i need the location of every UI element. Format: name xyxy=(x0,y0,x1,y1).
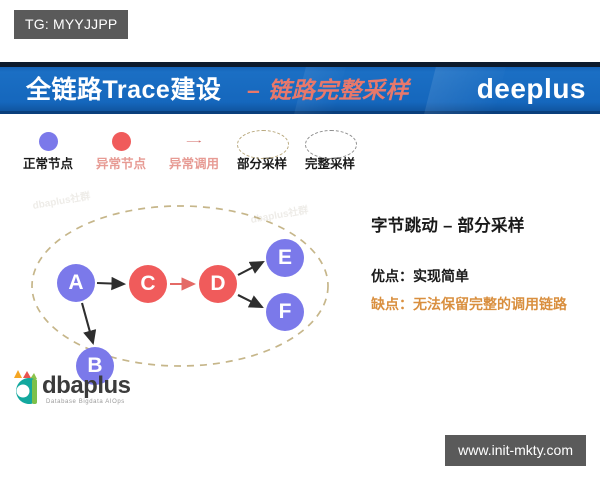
node-e[interactable]: E xyxy=(266,239,304,277)
description-panel: 字节跳动 – 部分采样 优点：实现简单 缺点：无法保留完整的调用链路 xyxy=(371,215,593,315)
panel-pro-text: 优点：实现简单 xyxy=(371,266,593,287)
title-separator-dash: – xyxy=(247,75,260,105)
deeplus-logo: deeplus xyxy=(477,73,586,105)
edge-a-to-b xyxy=(82,303,93,343)
legend-label: 异常调用 xyxy=(158,156,230,172)
legend-mark xyxy=(226,126,298,156)
node-c[interactable]: C xyxy=(129,265,167,303)
node-a[interactable]: A xyxy=(57,264,95,302)
node-f[interactable]: F xyxy=(266,293,304,331)
edge-d-to-f xyxy=(238,295,262,307)
partial-sampling-ellipse-icon xyxy=(237,130,289,159)
legend-item-full-sampling: 完整采样 xyxy=(294,126,366,172)
dbaplus-tagline: Database Bigdata AIOps xyxy=(46,398,125,406)
legend: 正常节点 异常节点 异常调用 部分采样 完整采样 xyxy=(0,126,380,184)
dbaplus-logo: dbaplus Database Bigdata AIOps xyxy=(6,368,131,412)
legend-item-normal-node: 正常节点 xyxy=(12,126,84,172)
normal-node-dot-icon xyxy=(39,132,58,151)
edge-d-to-e xyxy=(238,262,263,275)
legend-label: 正常节点 xyxy=(12,156,84,172)
panel-title: 字节跳动 – 部分采样 xyxy=(371,215,593,237)
full-sampling-ellipse-icon xyxy=(305,130,357,159)
url-watermark-tag: www.init-mkty.com xyxy=(445,435,586,466)
tg-watermark-tag: TG: MYYJJPP xyxy=(14,10,128,39)
abnormal-node-dot-icon xyxy=(112,132,131,151)
edge-a-to-c xyxy=(97,283,124,284)
dbaplus-wordmark: dbaplus xyxy=(42,372,131,400)
legend-mark xyxy=(85,126,157,156)
abnormal-call-arrow-icon xyxy=(165,140,223,143)
legend-mark xyxy=(12,126,84,156)
page-subtitle: 链路完整采样 xyxy=(268,75,409,105)
legend-item-partial-sampling: 部分采样 xyxy=(226,126,298,172)
legend-item-abnormal-call: 异常调用 xyxy=(158,126,230,172)
header-banner: 全链路Trace建设 – 链路完整采样 deeplus xyxy=(0,62,600,114)
legend-mark xyxy=(158,126,230,156)
panel-con-text: 缺点：无法保留完整的调用链路 xyxy=(371,294,593,315)
page-title: 全链路Trace建设 xyxy=(26,74,221,106)
dbaplus-mark-icon xyxy=(6,368,42,408)
legend-mark xyxy=(294,126,366,156)
legend-item-abnormal-node: 异常节点 xyxy=(85,126,157,172)
node-d[interactable]: D xyxy=(199,265,237,303)
legend-label: 异常节点 xyxy=(85,156,157,172)
